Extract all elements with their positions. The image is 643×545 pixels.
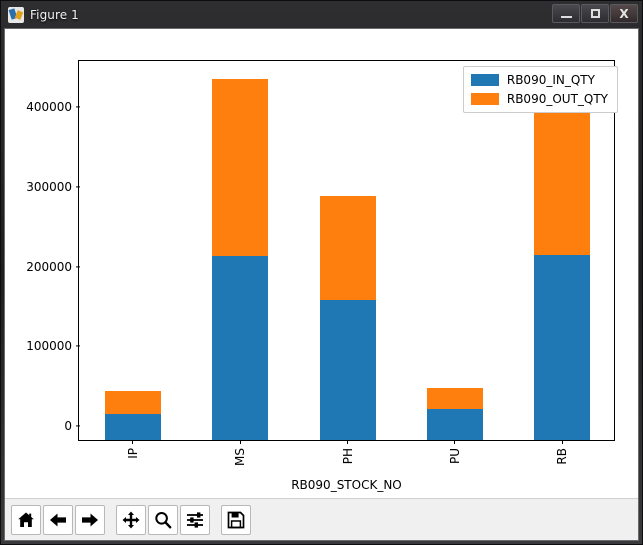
maximize-button[interactable]	[581, 4, 609, 23]
bar-MS[interactable]	[212, 79, 268, 440]
bar-PH[interactable]	[320, 196, 376, 440]
y-axis-tick-label: 300000	[26, 180, 79, 194]
back-arrow-icon	[48, 510, 68, 530]
bar-segment-rb090_in_qty	[320, 300, 376, 440]
legend-swatch	[471, 93, 499, 105]
zoom-magnifier-icon	[153, 510, 173, 530]
x-tick-mark	[562, 440, 563, 444]
bar-segment-rb090_out_qty	[427, 388, 483, 409]
save-floppy-icon	[226, 510, 246, 530]
x-axis-tick-label: PU	[448, 440, 462, 464]
bar-segment-rb090_in_qty	[534, 255, 590, 440]
x-tick-mark	[132, 440, 133, 444]
x-axis-tick-label: RB	[555, 440, 569, 465]
window-controls: X	[552, 4, 638, 23]
figure-window: Figure 1 X In qty/Outqty RB090_IN_QTYRB0…	[0, 0, 643, 545]
legend-label: RB090_OUT_QTY	[507, 92, 608, 106]
y-axis-tick-label: 0	[64, 419, 79, 433]
x-tick-text: MS	[233, 448, 247, 466]
title-bar[interactable]: Figure 1 X	[1, 1, 642, 28]
x-tick-mark	[240, 440, 241, 444]
toolbar-separator	[107, 505, 116, 535]
bar-segment-rb090_in_qty	[427, 409, 483, 440]
configure-subplots-button[interactable]	[180, 505, 210, 535]
close-icon: X	[619, 7, 628, 21]
legend-item: RB090_IN_QTY	[471, 73, 608, 87]
x-tick-text: PU	[448, 448, 462, 464]
minimize-icon	[561, 16, 572, 18]
x-axis-label: RB090_STOCK_NO	[79, 478, 614, 492]
figure-canvas[interactable]: In qty/Outqty RB090_IN_QTYRB090_OUT_QTY …	[5, 29, 638, 498]
bar-PU[interactable]	[427, 388, 483, 440]
bar-segment-rb090_out_qty	[212, 79, 268, 256]
navigation-toolbar	[5, 498, 638, 540]
y-axis-tick-label: 200000	[26, 260, 79, 274]
x-tick-text: IP	[126, 448, 140, 459]
forward-button[interactable]	[75, 505, 105, 535]
figure: In qty/Outqty RB090_IN_QTYRB090_OUT_QTY …	[5, 29, 638, 498]
toolbar-separator-2	[212, 505, 221, 535]
close-button[interactable]: X	[610, 4, 638, 23]
bar-IP[interactable]	[105, 391, 161, 440]
legend-label: RB090_IN_QTY	[507, 73, 595, 87]
legend-item: RB090_OUT_QTY	[471, 92, 608, 106]
forward-arrow-icon	[80, 510, 100, 530]
x-tick-mark	[347, 440, 348, 444]
x-axis-tick-label: MS	[233, 440, 247, 466]
minimize-button[interactable]	[552, 4, 580, 23]
save-button[interactable]	[221, 505, 251, 535]
zoom-button[interactable]	[148, 505, 178, 535]
plot-axes: RB090_IN_QTYRB090_OUT_QTY RB090_STOCK_NO…	[78, 60, 615, 441]
matplotlib-icon	[8, 7, 24, 23]
bar-RB[interactable]	[534, 77, 590, 440]
maximize-icon	[591, 9, 600, 18]
subplot-sliders-icon	[185, 510, 205, 530]
x-tick-mark	[454, 440, 455, 444]
y-axis-tick-label: 100000	[26, 339, 79, 353]
legend: RB090_IN_QTYRB090_OUT_QTY	[463, 66, 618, 113]
bar-segment-rb090_out_qty	[320, 196, 376, 300]
bar-segment-rb090_in_qty	[105, 414, 161, 440]
x-axis-tick-label: IP	[126, 440, 140, 459]
x-axis-tick-label: PH	[341, 440, 355, 464]
client-area: In qty/Outqty RB090_IN_QTYRB090_OUT_QTY …	[4, 28, 639, 541]
x-tick-text: RB	[555, 448, 569, 465]
bar-segment-rb090_in_qty	[212, 256, 268, 440]
pan-move-icon	[121, 510, 141, 530]
back-button[interactable]	[43, 505, 73, 535]
bar-segment-rb090_out_qty	[105, 391, 161, 414]
window-title: Figure 1	[30, 8, 79, 22]
x-tick-text: PH	[341, 448, 355, 464]
home-button[interactable]	[11, 505, 41, 535]
y-axis-tick-label: 400000	[26, 100, 79, 114]
legend-swatch	[471, 74, 499, 86]
pan-button[interactable]	[116, 505, 146, 535]
home-icon	[16, 510, 36, 530]
